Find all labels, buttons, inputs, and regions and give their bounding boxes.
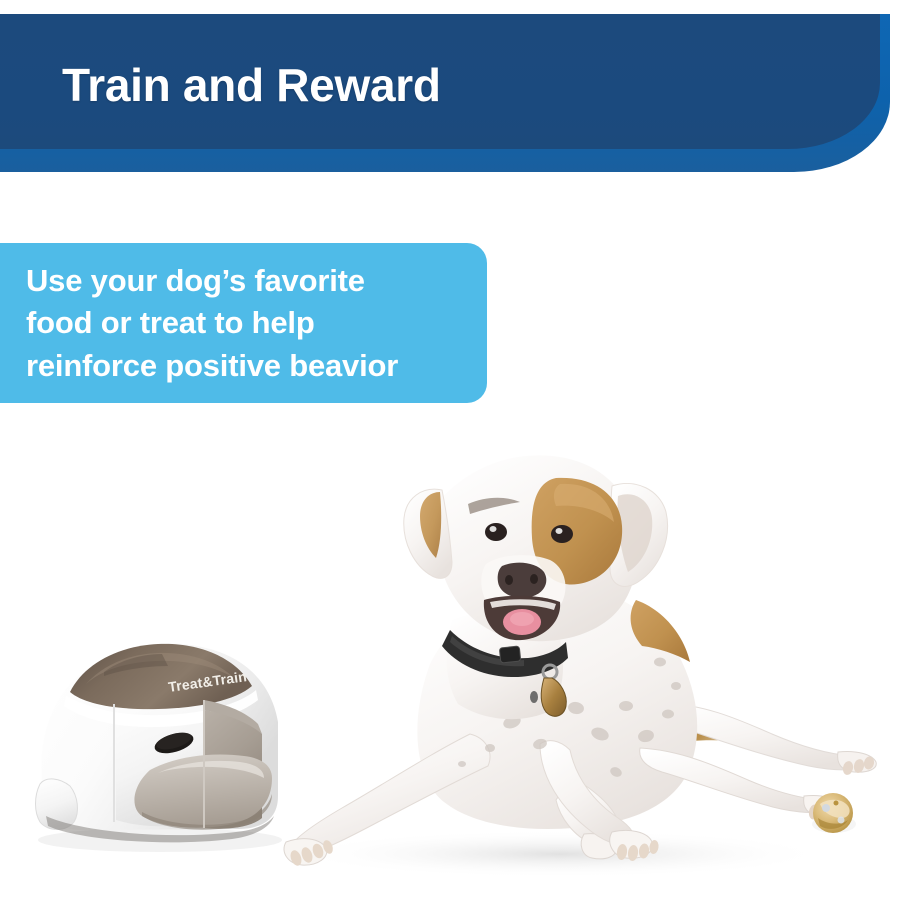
treat-fleck-2	[838, 817, 845, 824]
callout-line-2: food or treat to help	[26, 302, 473, 344]
dog-nostril-right	[530, 574, 538, 584]
dog-nostril-left	[505, 575, 513, 585]
dog-tag-small	[530, 691, 538, 703]
dog-eye-left	[485, 523, 507, 541]
dog-eye-left-glint	[490, 526, 497, 532]
photo-illustration: . Treat&Train	[0, 404, 900, 900]
callout-line-1: Use your dog’s favorite	[26, 260, 473, 302]
treat-fleck-3	[834, 801, 839, 806]
callout-line-3: reinforce positive beavior	[26, 345, 473, 387]
product-photo: A white dog with tan patches lying down …	[0, 404, 900, 900]
dog-tongue-highlight	[510, 612, 534, 626]
dog-shadow	[290, 830, 830, 878]
page-title: Train and Reward	[62, 62, 441, 108]
dog-eye-right-glint	[556, 528, 563, 534]
dog-collar-buckle	[499, 646, 520, 663]
callout-box: Use your dog’s favorite food or treat to…	[0, 243, 487, 403]
dog-eye-right	[551, 525, 573, 543]
treat-fleck-1	[822, 804, 830, 812]
dog-nose	[498, 563, 547, 598]
product-feature-card: Train and Reward Use your dog’s favorite…	[0, 0, 900, 900]
header-banner: Train and Reward	[0, 0, 900, 190]
